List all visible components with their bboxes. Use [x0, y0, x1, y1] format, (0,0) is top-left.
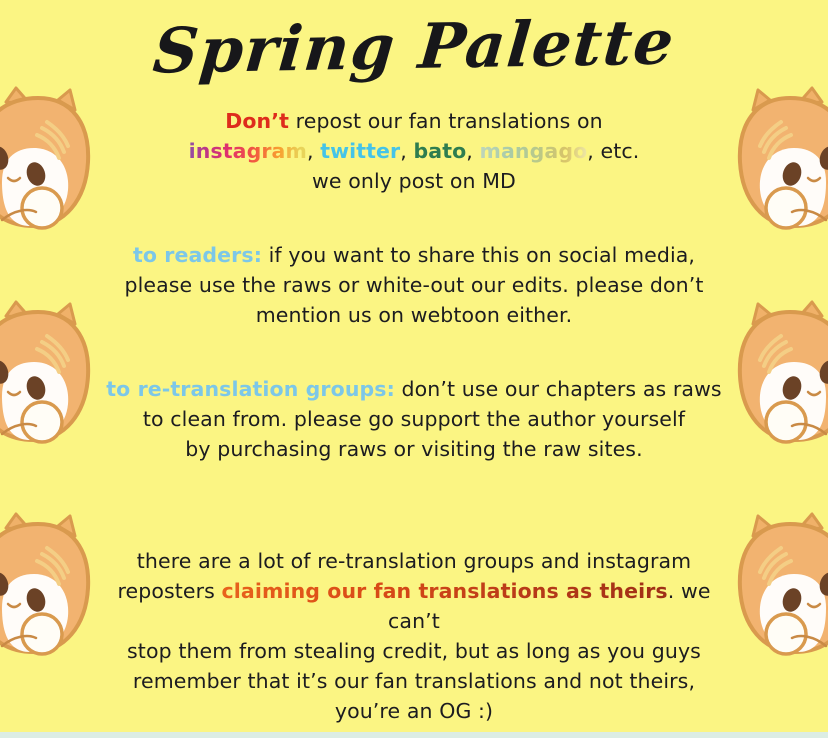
site-bato: bato: [414, 139, 467, 163]
cat-mascot-icon-top-left: [0, 86, 100, 236]
closing-line5: you’re an OG :): [335, 699, 493, 723]
to-retranslation-groups-line1: don’t use our chapters as raws: [395, 377, 722, 401]
site-twitter: twitter: [320, 139, 400, 163]
cat-mascot-icon-top-right: [728, 86, 828, 236]
notice-body: Don’t repost our fan translations on ins…: [96, 106, 732, 726]
cat-mascot-icon-middle-right: [728, 300, 828, 450]
site-mangago: mangago: [480, 139, 588, 163]
dont-emphasis: Don’t: [225, 109, 289, 133]
page-title-wrapper: Spring Palette: [0, 14, 828, 79]
spacer-1: [96, 196, 732, 240]
repost-line-rest: repost our fan translations on: [289, 109, 603, 133]
cat-mascot-icon-middle-left: [0, 300, 100, 450]
notice-block-to-readers: to readers: if you want to share this on…: [96, 240, 732, 330]
to-readers-line3: mention us on webtoon either.: [256, 303, 573, 327]
to-readers-label: to readers:: [133, 243, 262, 267]
site-separator-1: ,: [307, 139, 320, 163]
cat-mascot-icon-bottom-right: [728, 512, 828, 662]
notice-block-repost-rules: Don’t repost our fan translations on ins…: [96, 106, 732, 196]
spring-palette-notice-card: Spring Palette Don’t repost our fan tran…: [0, 0, 828, 738]
spacer-2: [96, 330, 732, 374]
closing-line1: there are a lot of re-translation groups…: [137, 549, 691, 573]
closing-line3: stop them from stealing credit, but as l…: [127, 639, 701, 663]
closing-line2-pre: reposters: [117, 579, 221, 603]
notice-block-closing-statement: there are a lot of re-translation groups…: [96, 546, 732, 726]
to-readers-line1: if you want to share this on social medi…: [262, 243, 695, 267]
notice-block-to-retranslation-groups: to re-translation groups: don’t use our …: [96, 374, 732, 464]
to-retranslation-groups-label: to re-translation groups:: [106, 377, 395, 401]
post-location-line: we only post on MD: [312, 169, 516, 193]
site-separator-3: ,: [466, 139, 479, 163]
bottom-edge-strip: [0, 732, 828, 738]
to-retranslation-groups-line2: to clean from. please go support the aut…: [143, 407, 685, 431]
page-title: Spring Palette: [151, 9, 678, 83]
to-retranslation-groups-line3: by purchasing raws or visiting the raw s…: [185, 437, 642, 461]
spacer-3: [96, 464, 732, 546]
claiming-emphasis: claiming our fan translations as theirs: [222, 579, 668, 603]
cat-mascot-icon-bottom-left: [0, 512, 100, 662]
site-separator-2: ,: [400, 139, 413, 163]
site-instagram: instagram: [189, 139, 307, 163]
closing-line4: remember that it’s our fan translations …: [133, 669, 695, 693]
to-readers-line2: please use the raws or white-out our edi…: [124, 273, 703, 297]
site-separator-4: , etc.: [587, 139, 639, 163]
